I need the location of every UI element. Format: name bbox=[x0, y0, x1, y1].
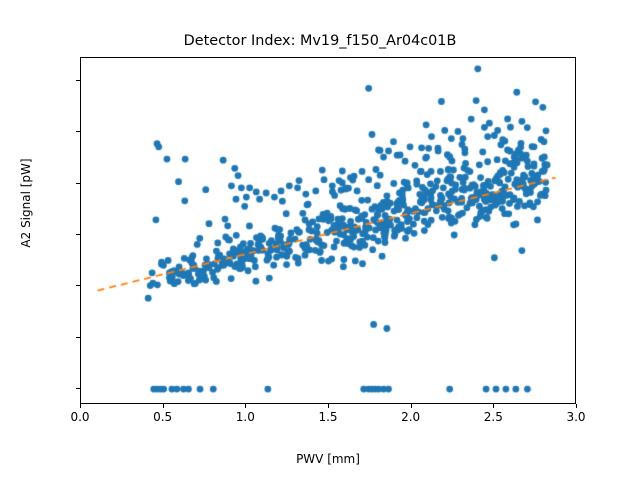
x-tick-mark bbox=[493, 404, 494, 408]
y-axis-label: A2 Signal [pW] bbox=[19, 43, 33, 363]
chart-title: Detector Index: Mv19_f150_Ar04c01B bbox=[0, 33, 640, 49]
x-tick-mark bbox=[163, 404, 164, 408]
x-tick-label: 0.0 bbox=[40, 410, 120, 424]
x-tick-label: 1.5 bbox=[288, 410, 368, 424]
x-tick-mark bbox=[576, 404, 577, 408]
x-tick-label: 2.5 bbox=[453, 410, 533, 424]
plot-area bbox=[80, 57, 576, 404]
x-tick-mark bbox=[245, 404, 246, 408]
x-tick-label: 3.0 bbox=[536, 410, 616, 424]
x-axis-label: PWV [mm] bbox=[80, 452, 576, 466]
matplotlib-figure: Detector Index: Mv19_f150_Ar04c01B A2 Si… bbox=[0, 0, 640, 480]
x-tick-mark bbox=[411, 404, 412, 408]
x-tick-label: 0.5 bbox=[123, 410, 203, 424]
x-tick-label: 1.0 bbox=[205, 410, 285, 424]
x-tick-mark bbox=[328, 404, 329, 408]
scatter-plot-canvas bbox=[81, 58, 576, 404]
x-tick-label: 2.0 bbox=[371, 410, 451, 424]
x-tick-mark bbox=[80, 404, 81, 408]
